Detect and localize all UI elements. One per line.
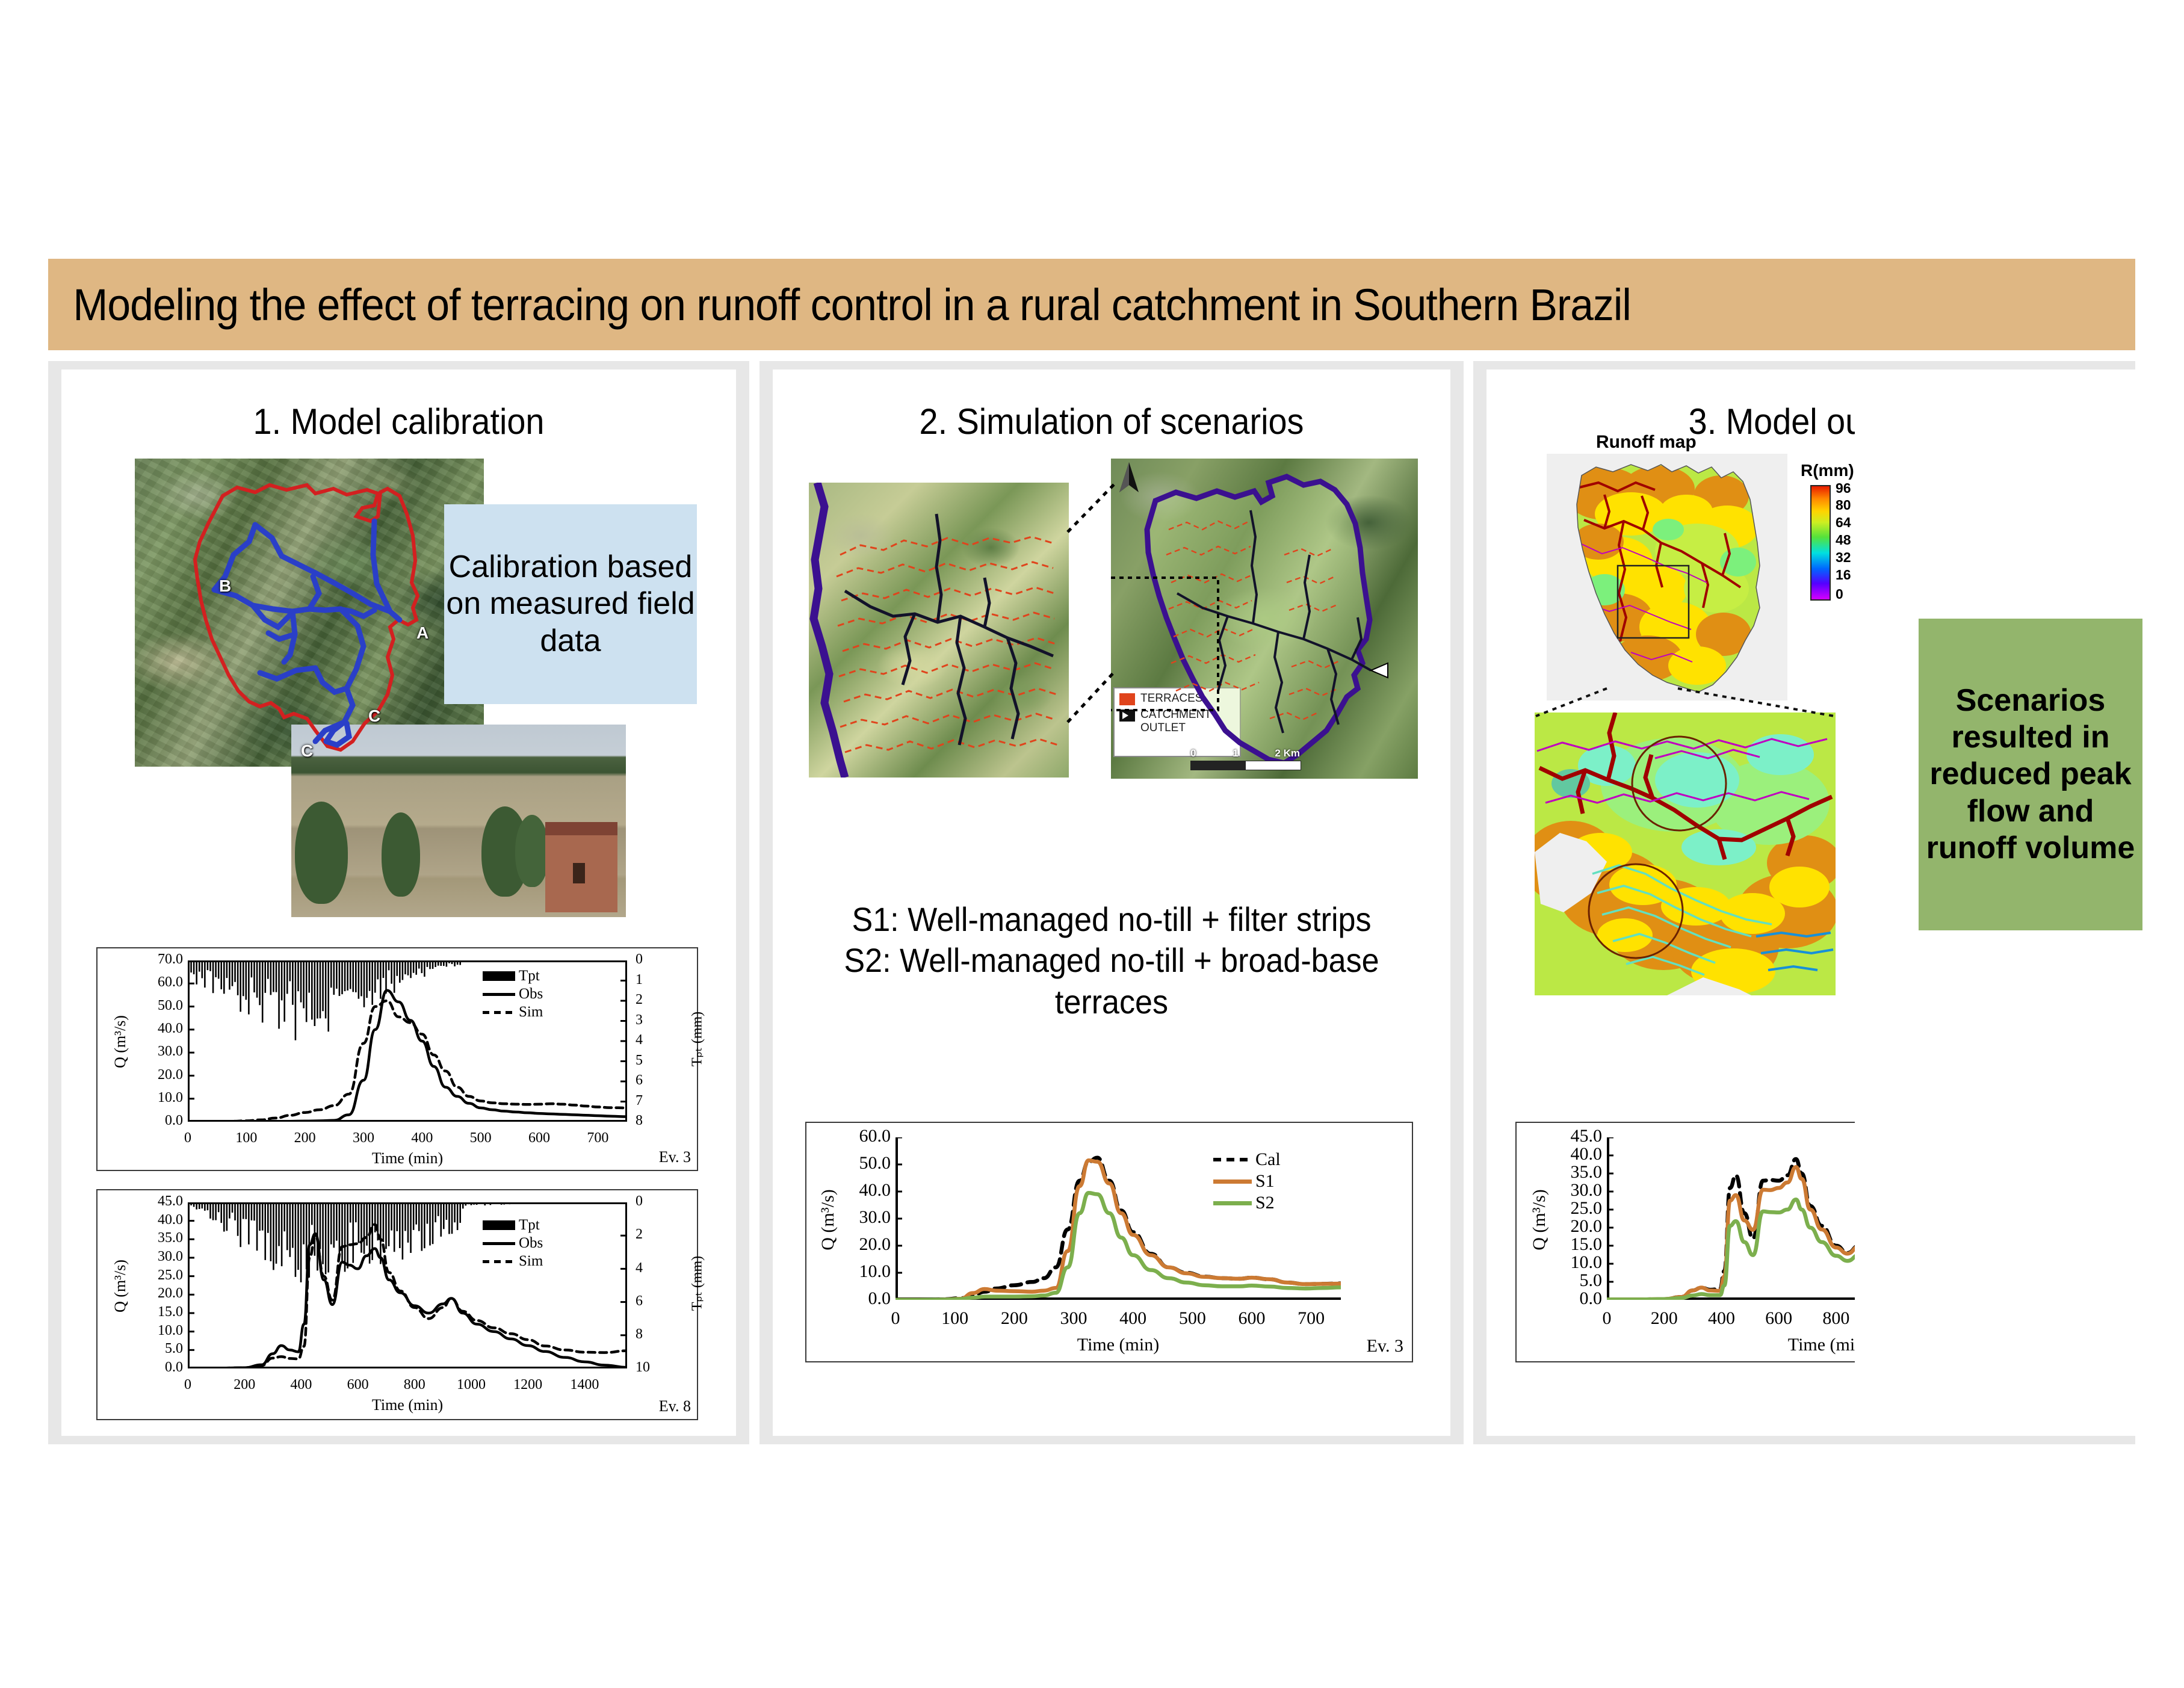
y-axis-tick: 30.0 — [125, 1249, 183, 1265]
chart1-event-label: Ev. 3 — [659, 1148, 691, 1166]
scale-tick-2: 2 — [1275, 747, 1280, 759]
y-axis-tick: 10.0 — [828, 1261, 891, 1282]
colorbar-tick-32: 32 — [1836, 549, 1851, 566]
chart2-y2label: Tₚₜ (mm) — [688, 1223, 706, 1344]
chart2-xlabel: Time (min) — [188, 1396, 627, 1414]
y-axis-tick: 70.0 — [125, 951, 183, 968]
chart2-event-label: Ev. 8 — [659, 1397, 691, 1415]
results-callout: Scenarios resulted in reduced peak flow … — [1919, 619, 2142, 930]
colorbar-tick-0: 0 — [1836, 586, 1843, 602]
y-axis-tick: 35.0 — [125, 1230, 183, 1246]
x-axis-tick: 500 — [1162, 1308, 1222, 1329]
x-axis-tick: 700 — [568, 1130, 628, 1146]
map-label-a-main: A — [416, 623, 428, 643]
y2-axis-tick: 3 — [636, 1012, 660, 1028]
x-axis-tick: 300 — [333, 1130, 394, 1146]
y2-axis-tick: 7 — [636, 1093, 660, 1109]
y-axis-tick: 15.0 — [1539, 1234, 1602, 1255]
y-axis-tick: 15.0 — [125, 1304, 183, 1320]
y-axis-tick: 30.0 — [125, 1043, 183, 1060]
map-label-c: C — [368, 706, 380, 726]
y2-axis-tick: 2 — [636, 992, 660, 1008]
series-sim — [188, 1225, 627, 1368]
chart-ev3-calibration: Time (min) Q (m³/s) Tₚₜ (mm) Ev. 3 Tpt O… — [96, 947, 698, 1171]
x-axis-tick: 1400 — [554, 1377, 614, 1393]
x-axis-tick: 200 — [275, 1130, 335, 1146]
zoom-connector — [1533, 646, 1846, 719]
panel-simulation-of-scenarios: 2. Simulation of scenarios — [759, 361, 1464, 1444]
y-axis-tick: 40.0 — [828, 1180, 891, 1201]
x-axis-tick: 1000 — [441, 1377, 501, 1393]
y2-axis-tick: 4 — [636, 1260, 660, 1276]
y-axis-tick: 10.0 — [125, 1090, 183, 1106]
y2-axis-tick: 8 — [636, 1113, 660, 1129]
x-axis-tick: 0 — [158, 1377, 218, 1393]
photo-label-c: C — [301, 741, 313, 761]
y-axis-tick: 0.0 — [828, 1288, 891, 1309]
y-axis-tick: 60.0 — [828, 1126, 891, 1146]
chart1-y2label: Tₚₜ (mm) — [688, 979, 706, 1099]
title-bar: Modeling the effect of terracing on runo… — [48, 259, 2135, 350]
colorbar-title: R(mm) — [1801, 461, 1854, 480]
y-axis-tick: 0.0 — [125, 1359, 183, 1376]
colorbar-tick-80: 80 — [1836, 497, 1851, 513]
panel2-heading: 2. Simulation of scenarios — [796, 401, 1426, 442]
y-axis-tick: 30.0 — [1539, 1180, 1602, 1201]
y-axis-tick: 40.0 — [125, 1212, 183, 1228]
x-axis-tick: 1200 — [498, 1377, 558, 1393]
series-obs — [188, 991, 627, 1122]
y-axis-tick: 5.0 — [1539, 1270, 1602, 1291]
runoff-map-zoom — [1535, 713, 1836, 995]
x-axis-tick: 800 — [385, 1377, 445, 1393]
chart-ev8-calibration: Time (min) Q (m³/s) Tₚₜ (mm) Ev. 8 Tpt O… — [96, 1189, 698, 1420]
chart3-xlabel: Time (min) — [896, 1335, 1341, 1355]
runoff-colorbar — [1810, 485, 1831, 601]
y-axis-tick: 0.0 — [1539, 1288, 1602, 1309]
x-axis-tick: 700 — [1281, 1308, 1341, 1329]
chart-ev3-scenarios: Time (min) Q (m³/s) Ev. 3 Cal S1 S2 0.01… — [805, 1122, 1413, 1362]
y2-axis-tick: 2 — [636, 1226, 660, 1243]
colorbar-tick-16: 16 — [1836, 567, 1851, 583]
panel2-content: 2. Simulation of scenarios — [773, 369, 1450, 1436]
colorbar-tick-96: 96 — [1836, 480, 1851, 496]
y-axis-tick: 5.0 — [125, 1341, 183, 1357]
x-axis-tick: 400 — [271, 1377, 331, 1393]
y-axis-tick: 25.0 — [1539, 1198, 1602, 1219]
y-axis-tick: 30.0 — [828, 1207, 891, 1228]
y2-axis-tick: 4 — [636, 1032, 660, 1048]
y-axis-tick: 45.0 — [1539, 1126, 1602, 1146]
scale-bar: 0 1 2 Km — [1190, 747, 1301, 770]
inset-connector — [1065, 481, 1121, 782]
x-axis-tick: 600 — [1749, 1308, 1809, 1329]
terrace-detail-inset — [809, 483, 1069, 778]
y2-axis-tick: 0 — [636, 1193, 660, 1210]
y2-axis-tick: 8 — [636, 1326, 660, 1343]
y-axis-tick: 20.0 — [125, 1285, 183, 1302]
chart1-xlabel: Time (min) — [188, 1149, 627, 1167]
y-axis-tick: 40.0 — [125, 1021, 183, 1037]
y-axis-tick: 20.0 — [1539, 1216, 1602, 1237]
scale-unit: Km — [1284, 747, 1300, 759]
y2-axis-tick: 0 — [636, 951, 660, 968]
y-axis-tick: 45.0 — [125, 1193, 183, 1210]
x-axis-tick: 600 — [328, 1377, 388, 1393]
y2-axis-tick: 5 — [636, 1053, 660, 1069]
y2-axis-tick: 6 — [636, 1293, 660, 1309]
x-axis-tick: 0 — [865, 1308, 926, 1329]
x-axis-tick: 600 — [1222, 1308, 1282, 1329]
x-axis-tick: 0 — [1577, 1308, 1637, 1329]
x-axis-tick: 300 — [1044, 1308, 1104, 1329]
x-axis-tick: 100 — [925, 1308, 985, 1329]
scenario-s1: S1: Well-managed no-till + filter strips — [819, 899, 1405, 940]
y-axis-tick: 25.0 — [125, 1267, 183, 1284]
scenario-s2: S2: Well-managed no-till + broad-base te… — [819, 940, 1405, 1022]
x-axis-tick: 500 — [451, 1130, 511, 1146]
y-axis-tick: 10.0 — [125, 1323, 183, 1339]
scale-tick-0: 0 — [1190, 747, 1196, 759]
x-axis-tick: 200 — [984, 1308, 1044, 1329]
y2-axis-tick: 10 — [636, 1359, 660, 1376]
runoff-map-caption: Runoff map — [1596, 432, 1697, 453]
colorbar-tick-64: 64 — [1836, 515, 1851, 531]
x-axis-tick: 100 — [216, 1130, 276, 1146]
chart3-event-label: Ev. 3 — [1367, 1336, 1403, 1356]
panel1-heading: 1. Model calibration — [85, 401, 713, 442]
x-axis-tick: 400 — [1691, 1308, 1751, 1329]
page-title: Modeling the effect of terracing on runo… — [48, 279, 1631, 330]
y-axis-tick: 40.0 — [1539, 1144, 1602, 1164]
y-axis-tick: 20.0 — [828, 1234, 891, 1255]
x-axis-tick: 200 — [1634, 1308, 1694, 1329]
catchment-map-with-terraces: 0 1 2 Km — [1111, 459, 1418, 779]
y-axis-tick: 60.0 — [125, 974, 183, 991]
y-axis-tick: 0.0 — [125, 1113, 183, 1129]
y-axis-tick: 50.0 — [125, 998, 183, 1014]
x-axis-tick: 400 — [1103, 1308, 1163, 1329]
y-axis-tick: 20.0 — [125, 1067, 183, 1083]
y2-axis-tick: 6 — [636, 1072, 660, 1089]
scale-tick-1: 1 — [1233, 747, 1238, 759]
y-axis-tick: 10.0 — [1539, 1252, 1602, 1273]
x-axis-tick: 600 — [509, 1130, 569, 1146]
x-axis-tick: 0 — [158, 1130, 218, 1146]
map-label-b: B — [219, 577, 231, 596]
y-axis-tick: 50.0 — [828, 1153, 891, 1173]
y2-axis-tick: 1 — [636, 972, 660, 988]
graphical-abstract-page: Modeling the effect of terracing on runo… — [0, 0, 2184, 1688]
x-axis-tick: 400 — [392, 1130, 452, 1146]
colorbar-tick-48: 48 — [1836, 532, 1851, 548]
scenario-descriptions: S1: Well-managed no-till + filter strips… — [819, 899, 1405, 1022]
catchment-satellite-map: B — [135, 459, 484, 767]
y-axis-tick: 35.0 — [1539, 1162, 1602, 1183]
x-axis-tick: 200 — [214, 1377, 274, 1393]
